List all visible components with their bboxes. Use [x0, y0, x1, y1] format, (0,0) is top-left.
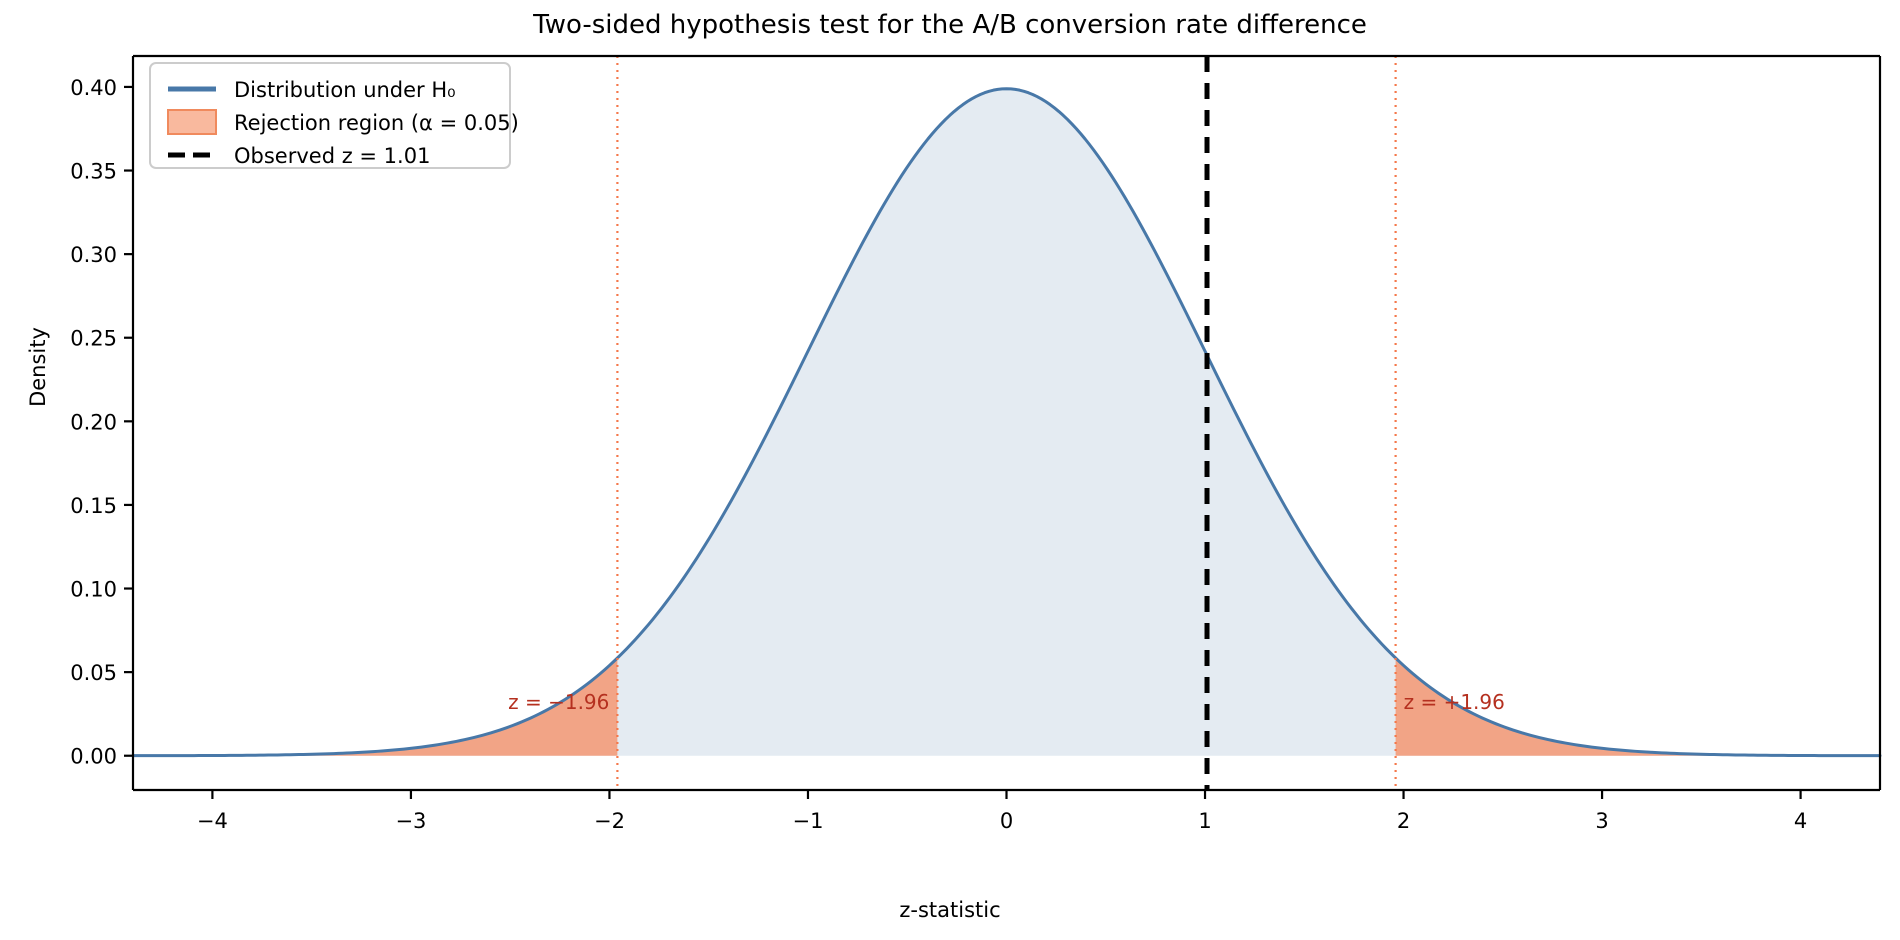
x-tick-label: −2 — [594, 809, 625, 833]
x-axis-label: z-statistic — [0, 898, 1900, 922]
y-tick-label: 0.15 — [70, 494, 117, 518]
x-tick-label: 2 — [1397, 809, 1410, 833]
x-tick-label: 4 — [1794, 809, 1807, 833]
chart-plot: −4−3−2−1012340.000.050.100.150.200.250.3… — [0, 0, 1900, 940]
distribution-body-fill — [133, 89, 1880, 756]
x-tick-label: −3 — [395, 809, 426, 833]
y-tick-label: 0.40 — [70, 76, 117, 100]
y-axis-label: Density — [26, 277, 50, 457]
x-tick-label: 1 — [1198, 809, 1211, 833]
legend-swatch-patch — [168, 110, 216, 134]
x-tick-label: −1 — [792, 809, 823, 833]
y-tick-label: 0.30 — [70, 243, 117, 267]
x-tick-label: −4 — [197, 809, 228, 833]
x-tick-label: 3 — [1595, 809, 1608, 833]
annotation-upper-critical: z = +1.96 — [1404, 690, 1505, 714]
figure-canvas: Two-sided hypothesis test for the A/B co… — [0, 0, 1900, 940]
y-tick-label: 0.20 — [70, 410, 117, 434]
chart-legend: Distribution under H₀Rejection region (α… — [150, 63, 519, 168]
legend-label: Rejection region (α = 0.05) — [234, 111, 519, 135]
legend-label: Distribution under H₀ — [234, 78, 456, 102]
y-tick-label: 0.35 — [70, 160, 117, 184]
legend-label: Observed z = 1.01 — [234, 144, 430, 168]
x-tick-label: 0 — [1000, 809, 1013, 833]
y-tick-label: 0.05 — [70, 661, 117, 685]
y-tick-label: 0.10 — [70, 578, 117, 602]
y-tick-label: 0.25 — [70, 327, 117, 351]
y-tick-label: 0.00 — [70, 745, 117, 769]
annotation-lower-critical: z = −1.96 — [508, 690, 609, 714]
